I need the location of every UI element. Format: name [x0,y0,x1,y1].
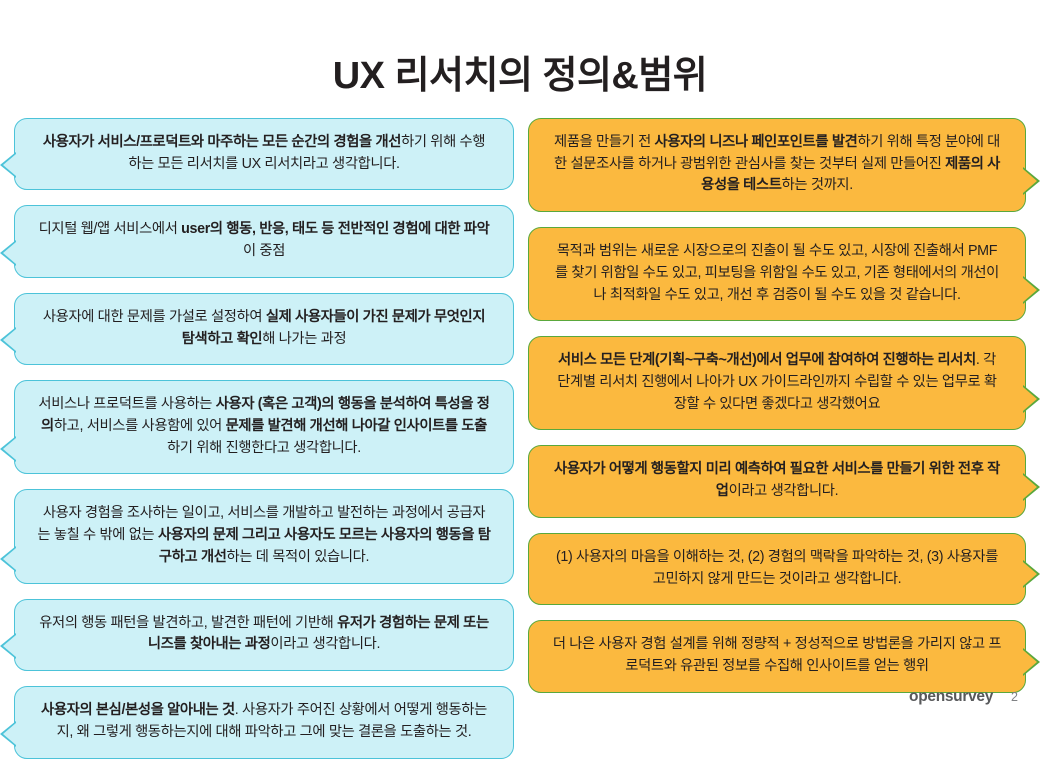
speech-bubble-left-1: 사용자가 서비스/프로덕트와 마주하는 모든 순간의 경험을 개선하기 위해 수… [14,118,514,190]
speech-bubble-right-5: (1) 사용자의 마음을 이해하는 것, (2) 경험의 맥락을 파악하는 것,… [528,533,1026,605]
page-title: UX 리서치의 정의&범위 [0,44,1040,99]
opensurvey-logo: opensurvey [909,688,993,706]
speech-bubble-left-5: 사용자 경험을 조사하는 일이고, 서비스를 개발하고 발전하는 과정에서 공급… [14,489,514,583]
left-bubble-column: 사용자가 서비스/프로덕트와 마주하는 모든 순간의 경험을 개선하기 위해 수… [14,118,514,774]
speech-bubble-right-3: 서비스 모든 단계(기획~구축~개선)에서 업무에 참여하여 진행하는 리서치.… [528,336,1026,430]
page-number: 2 [1011,690,1018,704]
slide-root: UX 리서치의 정의&범위 사용자가 서비스/프로덕트와 마주하는 모든 순간의… [0,0,1040,720]
speech-bubble-right-6: 더 나은 사용자 경험 설계를 위해 정량적 + 정성적으로 방법론을 가리지 … [528,620,1026,692]
speech-bubble-right-4: 사용자가 어떻게 행동할지 미리 예측하여 필요한 서비스를 만들기 위한 전후… [528,445,1026,517]
speech-bubble-left-6: 유저의 행동 패턴을 발견하고, 발견한 패턴에 기반해 유저가 경험하는 문제… [14,599,514,671]
speech-bubble-right-1: 제품을 만들기 전 사용자의 니즈나 페인포인트를 발견하기 위해 특정 분야에… [528,118,1026,212]
speech-bubble-left-7: 사용자의 본심/본성을 알아내는 것. 사용자가 주어진 상황에서 어떻게 행동… [14,686,514,758]
speech-bubble-left-2: 디지털 웹/앱 서비스에서 user의 행동, 반응, 태도 등 전반적인 경험… [14,205,514,277]
speech-bubble-left-3: 사용자에 대한 문제를 가설로 설정하여 실제 사용자들이 가진 문제가 무엇인… [14,293,514,365]
right-bubble-column: 제품을 만들기 전 사용자의 니즈나 페인포인트를 발견하기 위해 특정 분야에… [528,118,1026,708]
slide-footer: opensurvey 2 [909,688,1018,706]
speech-bubble-left-4: 서비스나 프로덕트를 사용하는 사용자 (혹은 고객)의 행동을 분석하여 특성… [14,380,514,474]
speech-bubble-right-2: 목적과 범위는 새로운 시장으로의 진출이 될 수도 있고, 시장에 진출해서 … [528,227,1026,321]
